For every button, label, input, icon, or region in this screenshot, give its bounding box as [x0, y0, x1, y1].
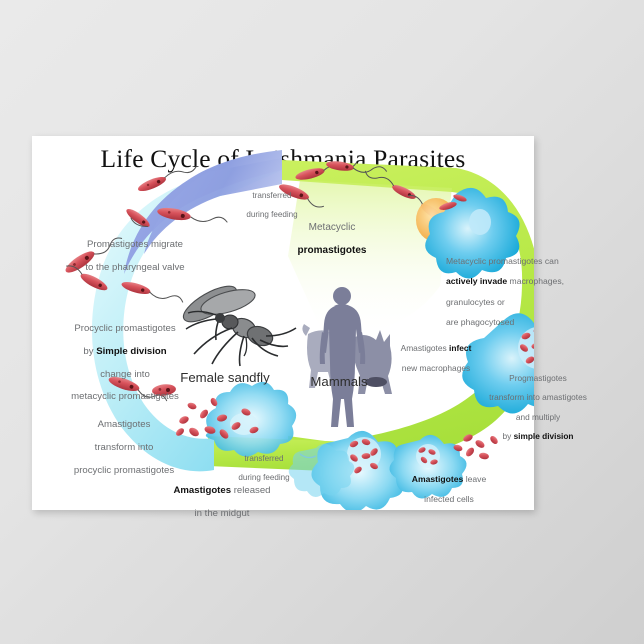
annotation-line: Amastigotes infect	[401, 343, 472, 353]
annotation-progmastigotes-transform: Progmastigotes transform into amastigote…	[480, 364, 596, 442]
annotation-line: Amastigotes	[98, 419, 151, 430]
annotation-line: granulocytes or	[446, 297, 505, 307]
annotation-line: to the pharyngeal valve	[85, 262, 184, 273]
annotation-metacyclic-promastigotes: Metacyclic promastigotes	[272, 210, 392, 257]
annotation-line: Procyclic promastigotes	[74, 323, 175, 334]
annotation-line: actively invade macrophages,	[446, 276, 564, 286]
annotation-line: Amastigotes leave	[412, 474, 487, 484]
annotation-amastigotes-transform: Amastigotes transform into procyclic pro…	[44, 408, 204, 476]
annotation-line: in the midgut	[195, 508, 250, 519]
annotation-line: change into	[100, 369, 150, 380]
annotation-emphasis: promastigotes	[298, 245, 367, 256]
annotation-line: transform into amastigotes	[489, 392, 587, 402]
label-mammals: Mammals	[284, 374, 394, 390]
annotation-line: during feeding	[238, 473, 289, 482]
annotation-emphasis: Amastigotes	[412, 474, 464, 484]
annotation-emphasis: infect	[449, 343, 471, 353]
annotation-line: are phagocytosed	[446, 317, 514, 327]
annotation-line: transferred	[252, 191, 291, 200]
annotation-line: transferred	[244, 454, 283, 463]
annotation-transferred-feeding-bottom: transferred during feeding	[218, 444, 310, 482]
annotation-line: by Simple division	[83, 346, 166, 357]
annotation-procyclic-change: Procyclic promastigotes by Simple divisi…	[34, 312, 216, 403]
annotation-line: by simple division	[502, 431, 573, 441]
annotation-emphasis: actively invade	[446, 276, 507, 286]
annotation-actively-invade: Metacyclic promastigotes can actively in…	[446, 246, 586, 327]
annotation-emphasis: Simple division	[96, 346, 166, 357]
annotation-line: infected cells	[424, 494, 474, 504]
leishmania-life-cycle-poster: Life Cycle of Leishmania Parasites	[32, 136, 534, 510]
annotation-line: Progmastigotes	[509, 373, 567, 383]
label-female-sandfly: Female sandfly	[160, 370, 290, 386]
annotation-emphasis: Amastigotes	[173, 485, 231, 496]
annotation-line: Amastigotes released	[173, 485, 270, 496]
annotation-line: transform into	[95, 442, 154, 453]
annotation-line: and multiply	[516, 412, 560, 422]
annotation-promastigotes-migrate: Promastigotes migrate to the pharyngeal …	[54, 228, 216, 273]
annotation-line: new macrophages	[402, 363, 470, 373]
screenshot-stage: Life Cycle of Leishmania Parasites	[0, 0, 644, 644]
annotation-line: Promastigotes migrate	[87, 239, 183, 250]
annotation-line: Metacyclic	[309, 222, 356, 233]
annotation-line: Metacyclic promastigotes can	[446, 256, 559, 266]
annotation-line: metacyclic promastigotes	[71, 391, 179, 402]
annotation-amastigotes-leave: Amastigotes leave infected cells	[390, 464, 508, 505]
annotation-amastigotes-infect: Amastigotes infect new macrophages	[384, 334, 488, 374]
annotation-emphasis: simple division	[514, 431, 574, 441]
